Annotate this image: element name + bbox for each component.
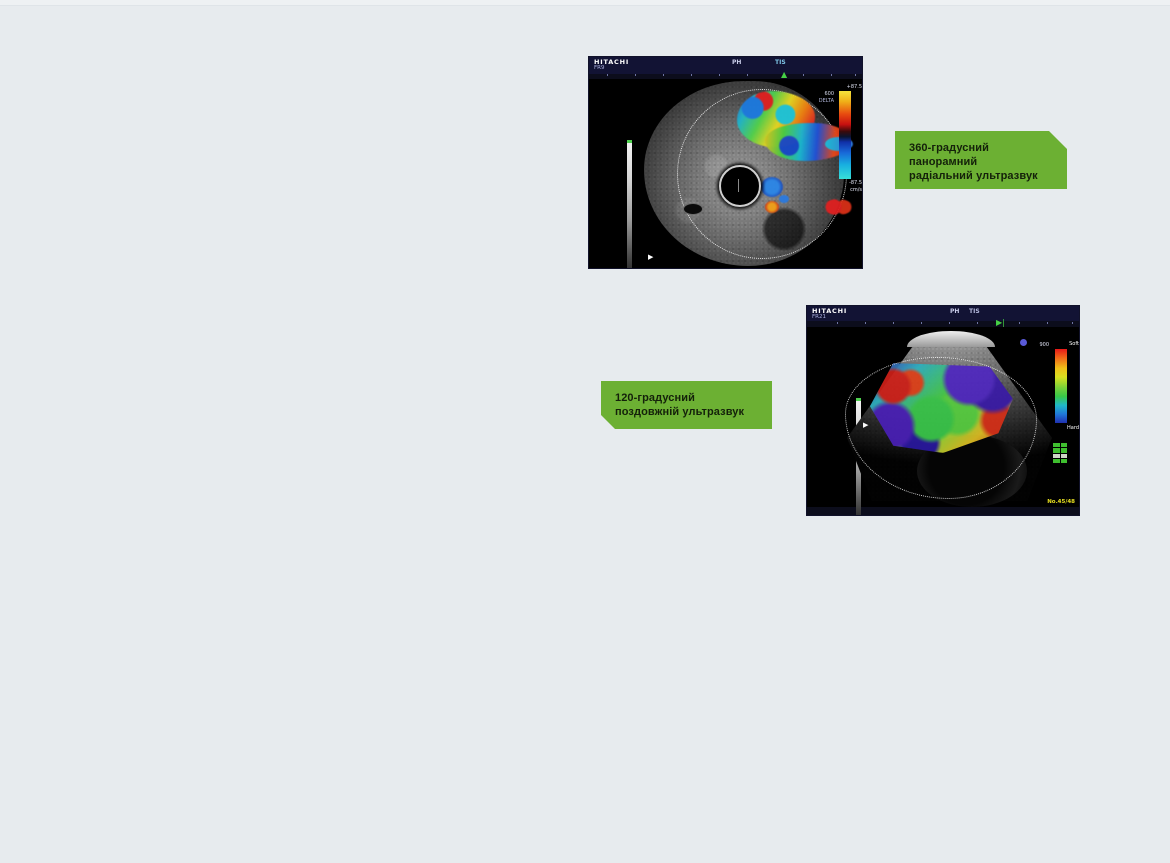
linear-elasticity-colorbar [1055,349,1067,423]
linear-status-dot-icon [1020,339,1027,346]
linear-image-number-label: No.45/48 [1047,499,1075,505]
radial-colorbar-unit-label: cm/s [850,187,862,193]
linear-header-bar: HITACHI FR21 PH TIS [807,306,1079,321]
pressure-cell [1061,448,1068,452]
linear-colorbar-gain-label: 900 [1039,342,1049,348]
radial-scan-canvas: ▶ 600 DELTA +87.5 -87.5 cm/s No.53/62 [589,79,862,269]
radial-frame-rate-label: FR9 [594,65,604,71]
pressure-cell [1053,443,1060,447]
pressure-cell [1061,443,1068,447]
linear-ph-label: PH [950,308,959,315]
radial-doppler-colorbar [839,91,851,179]
radial-colorbar-gain-label: 600 [824,91,834,97]
pressure-cell [1061,454,1068,458]
linear-scan-canvas: ▶ 900 Soft Hard No.45/48 [807,327,1079,507]
linear-orientation-marker-icon: ▶ [863,422,868,429]
radial-probe-artifact [719,165,761,207]
linear-tis-label: TIS [969,308,980,315]
radial-doppler-colorbar-gradient [839,91,851,179]
ultrasound-image-linear: HITACHI FR21 PH TIS ▶| ▶ 900 Soft Hard [806,305,1080,516]
linear-elasticity-colorbar-gradient [1055,349,1067,423]
callout-linear-line-1: 120-градусний [615,391,758,405]
linear-colorbar-top-label: Soft [1069,341,1079,347]
radial-color-flow-region-5 [765,201,779,213]
linear-probe-contact-surface [907,331,995,347]
radial-colorbar-mode-label: DELTA [819,98,834,104]
radial-ph-label: PH [732,59,741,66]
pressure-cell [1053,448,1060,452]
page-top-band [0,0,1170,6]
pressure-cell [1061,459,1068,463]
radial-tis-label: TIS [775,59,786,66]
callout-radial-line-1: 360-градусний [909,141,1053,155]
radial-orientation-marker-icon: ▶ [648,254,653,261]
linear-pressure-indicator [1053,443,1067,463]
callout-radial-ultrasound: 360-градусний панорамний радіальний ульт… [895,131,1067,189]
radial-color-flow-region-6 [779,195,789,203]
ultrasound-image-radial: HITACHI FR9 PH TIS ▲ ▶ 600 DELTA +87.5 -… [588,56,863,269]
callout-radial-line-3: радіальний ультразвук [909,169,1053,183]
radial-colorbar-top-value: +87.5 [847,84,862,90]
radial-colorbar-bottom-value: -87.5 [849,180,862,186]
pressure-cell [1053,454,1060,458]
callout-radial-line-2: панорамний [909,155,1053,169]
radial-anechoic-structure [683,203,703,215]
radial-color-flow-region-7 [823,199,853,215]
pressure-cell [1053,459,1060,463]
linear-colorbar-bottom-label: Hard [1067,425,1079,431]
callout-linear-ultrasound: 120-градусний поздовжній ультразвук [601,381,772,429]
callout-linear-line-2: поздовжній ультразвук [615,405,758,419]
radial-gray-scale-bar [627,143,632,269]
radial-focus-marker-icon: ▲ [781,71,787,79]
radial-color-flow-region-4 [761,177,783,197]
linear-focus-marker-icon: ▶| [996,319,1005,327]
